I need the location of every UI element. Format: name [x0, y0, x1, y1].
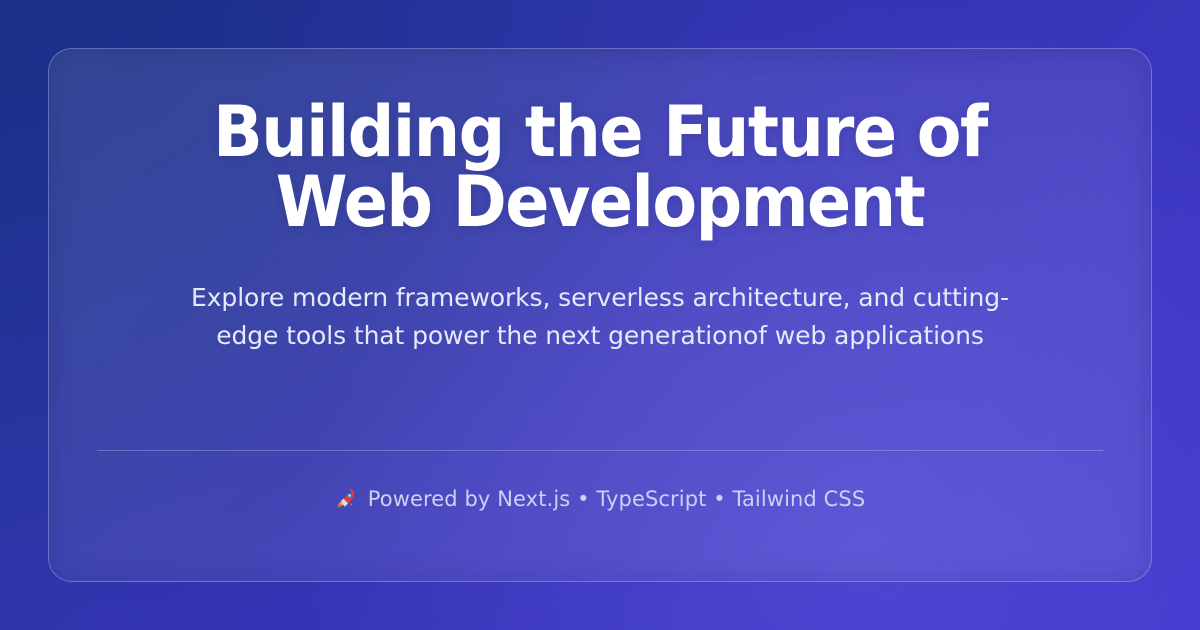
card-content: Building the Future of Web Development E… — [97, 93, 1103, 450]
card-footer: Powered by Next.js • TypeScript • Tailwi… — [97, 450, 1103, 547]
og-image-canvas: Building the Future of Web Development E… — [0, 0, 1200, 630]
footer-credit-row: Powered by Next.js • TypeScript • Tailwi… — [97, 451, 1103, 547]
footer-credit-text: Powered by Next.js • TypeScript • Tailwi… — [368, 487, 866, 511]
rocket-icon — [335, 487, 359, 511]
page-title: Building the Future of Web Development — [182, 97, 1019, 237]
hero-card: Building the Future of Web Development E… — [48, 48, 1152, 582]
page-subtitle: Explore modern frameworks, serverless ar… — [165, 279, 1035, 354]
